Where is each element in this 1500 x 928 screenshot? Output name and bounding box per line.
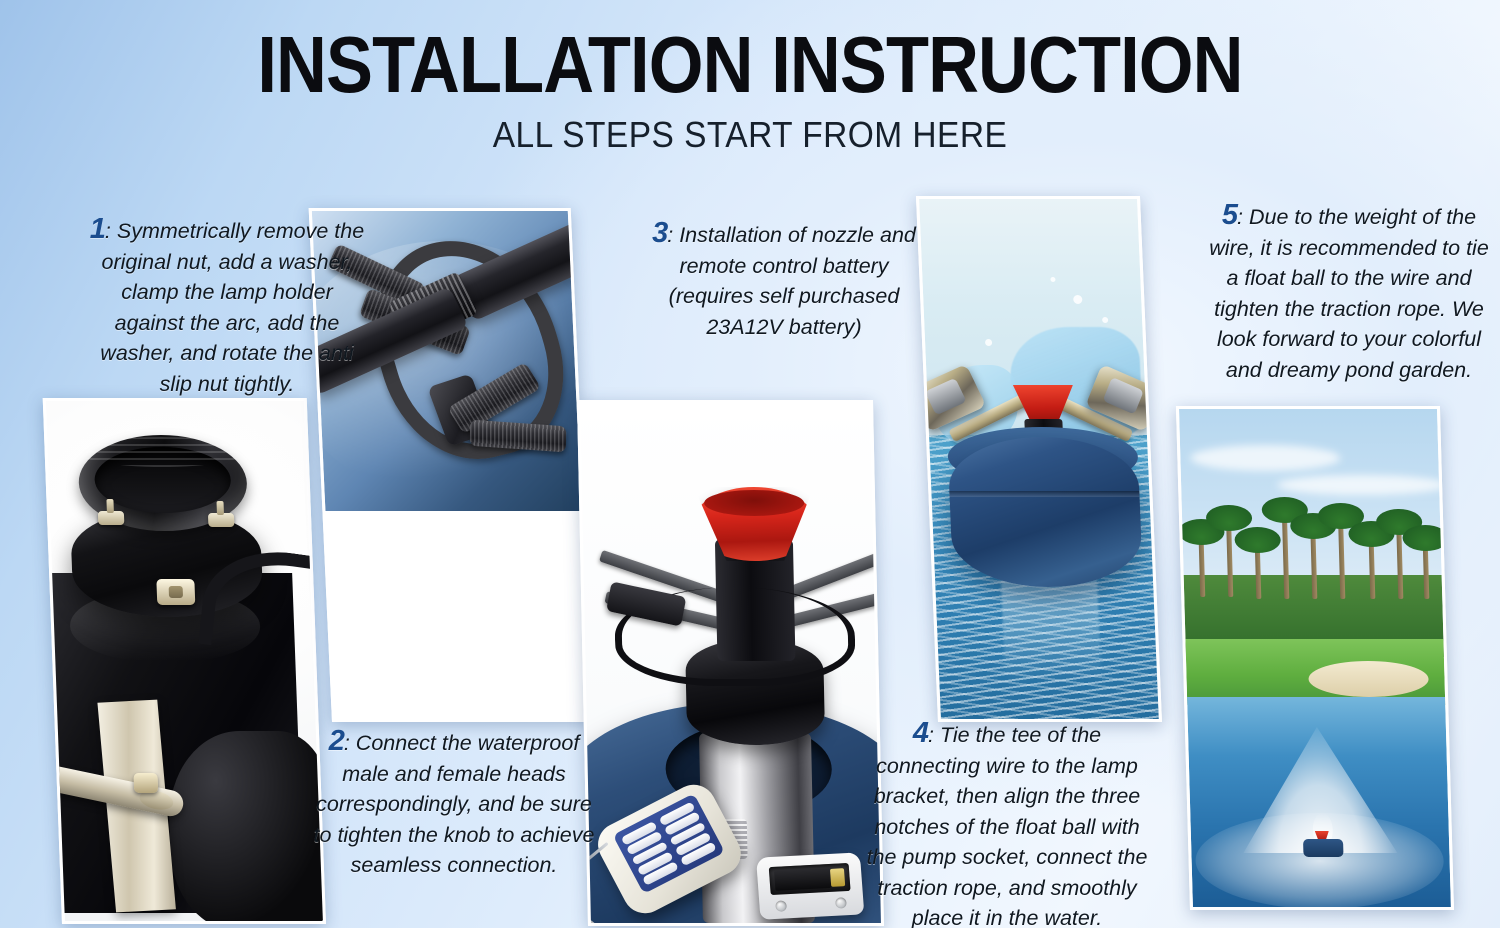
anti-slip-nut-icon <box>133 773 158 793</box>
step-1-separator: : <box>105 219 117 243</box>
step-3-image-panel <box>577 400 884 926</box>
step-1-photo <box>46 401 323 921</box>
battery-icon <box>774 868 831 891</box>
floating-fountain-unit <box>1303 839 1344 857</box>
underwater-reflection <box>1001 571 1102 681</box>
cloud-shape <box>1190 445 1341 471</box>
step-2-separator: : <box>344 731 356 755</box>
step-3-body: Installation of nozzle and remote contro… <box>669 223 916 339</box>
palm-tree-icon <box>1369 537 1376 599</box>
screw-icon <box>835 897 847 909</box>
step-2-number: 2 <box>329 725 344 757</box>
step-4-photo <box>919 199 1159 719</box>
palm-tree-icon <box>1255 543 1262 599</box>
step-3-photo <box>580 403 881 923</box>
step-3-number: 3 <box>652 217 667 249</box>
step-5-photo <box>1179 409 1451 907</box>
water-droplet <box>1050 277 1055 282</box>
palm-tree-icon <box>1199 535 1206 597</box>
battery-well <box>769 863 851 895</box>
step-4-image-panel <box>916 196 1162 722</box>
step-1-image-panel <box>43 398 326 924</box>
screw-icon <box>775 900 787 912</box>
step-5-number: 5 <box>1222 199 1237 231</box>
float-ring-shape <box>947 437 1143 587</box>
remote-button-grid <box>621 801 717 885</box>
page-title: INSTALLATION INSTRUCTION <box>90 22 1410 108</box>
cloud-shape <box>1277 475 1448 495</box>
screw-icon <box>98 511 125 525</box>
step-1-text: 1: Symmetrically remove the original nut… <box>88 214 366 399</box>
bolt-icon <box>156 579 195 605</box>
battery-compartment <box>756 852 864 919</box>
sand-bunker <box>1308 661 1429 697</box>
screw-icon <box>208 513 235 527</box>
infographic-poster: INSTALLATION INSTRUCTION ALL STEPS START… <box>0 0 1500 928</box>
step-5-image-panel <box>1176 406 1454 910</box>
step-5-body: Due to the weight of the wire, it is rec… <box>1209 205 1489 382</box>
step-4-body: Tie the tee of the connecting wire to th… <box>867 723 1148 928</box>
step-4-number: 4 <box>913 717 928 749</box>
water-droplet <box>1073 295 1082 304</box>
page-subtitle: ALL STEPS START FROM HERE <box>53 114 1448 156</box>
thread-texture <box>77 437 246 467</box>
step-5-text: 5: Due to the weight of the wire, it is … <box>1208 200 1490 385</box>
palm-tree-icon <box>1423 541 1430 599</box>
water-droplet <box>1102 317 1108 323</box>
white-backdrop <box>325 511 590 719</box>
step-5-separator: : <box>1237 205 1249 229</box>
step-2-text: 2: Connect the waterproof male and femal… <box>310 726 598 881</box>
step-1-number: 1 <box>90 213 105 245</box>
step-4-separator: : <box>928 723 940 747</box>
step-1-body: Symmetrically remove the original nut, a… <box>100 219 364 396</box>
housing-shadow <box>166 731 323 921</box>
step-3-text: 3: Installation of nozzle and remote con… <box>648 218 920 342</box>
step-2-body: Connect the waterproof male and female h… <box>314 731 595 877</box>
step-4-text: 4: Tie the tee of the connecting wire to… <box>866 718 1148 928</box>
water-droplet <box>985 339 992 346</box>
step-3-separator: : <box>667 223 679 247</box>
